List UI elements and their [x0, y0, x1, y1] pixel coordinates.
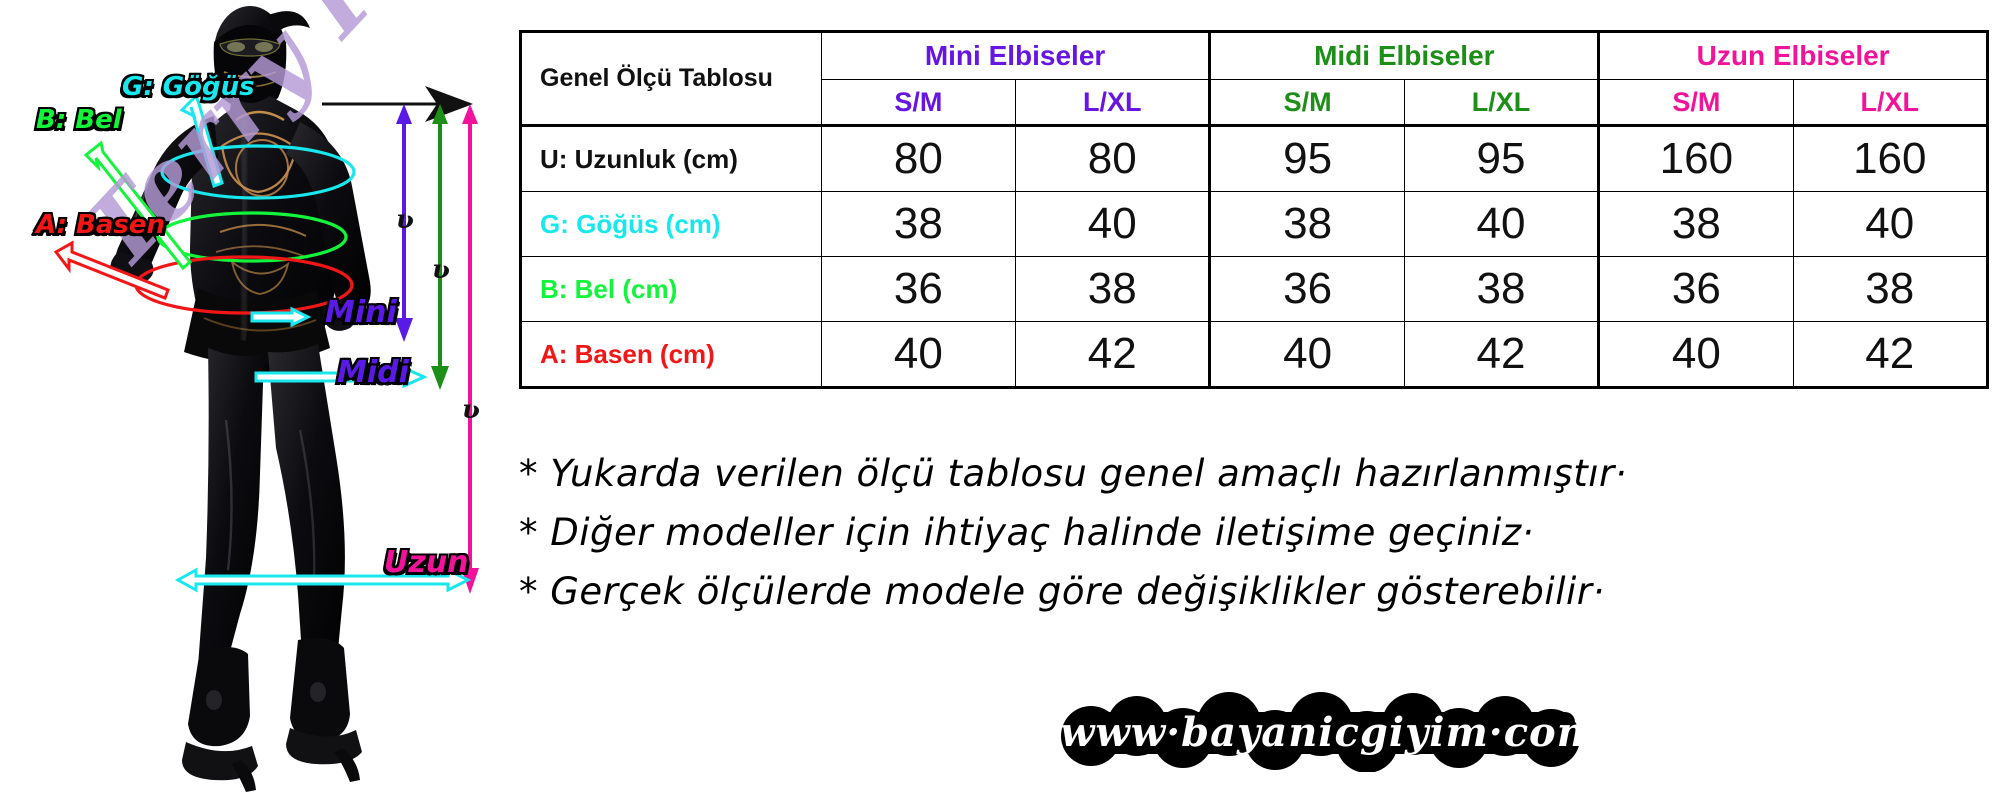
- label-midi: Midi: [337, 355, 409, 390]
- table-row: U: Uzunluk (cm) 80 80 95 95 160 160: [521, 126, 1988, 192]
- cell-basen-uzun-sm: 40: [1599, 322, 1793, 388]
- cell-bel-mini-sm: 36: [821, 257, 1015, 322]
- group-header-mini: Mini Elbiseler: [821, 32, 1210, 80]
- cell-gogus-uzun-lxl: 40: [1793, 192, 1987, 257]
- cell-basen-mini-sm: 40: [821, 322, 1015, 388]
- model-silhouette: [110, 6, 370, 792]
- u-glyph-uzun: ʋ: [462, 395, 480, 425]
- cell-bel-midi-lxl: 38: [1404, 257, 1598, 322]
- size-chart-page: ʋ ʋ ʋ Terry Pau G: Göğüs B: Bel A: Basen…: [0, 0, 2010, 811]
- row-label-bel: B: Bel (cm): [521, 257, 822, 322]
- label-bel: B: Bel: [36, 105, 122, 135]
- cell-gogus-midi-lxl: 40: [1404, 192, 1598, 257]
- cell-gogus-uzun-sm: 38: [1599, 192, 1793, 257]
- size-header-uzun-sm: S/M: [1599, 80, 1793, 126]
- website-url-text: www·bayanicgiyim·com: [1045, 692, 1615, 772]
- cell-basen-uzun-lxl: 42: [1793, 322, 1987, 388]
- size-header-midi-sm: S/M: [1210, 80, 1404, 126]
- note-line-1: * Yukarda verilen ölçü tablosu genel ama…: [519, 455, 1999, 492]
- cell-uzunluk-midi-lxl: 95: [1404, 126, 1598, 192]
- table-row: A: Basen (cm) 40 42 40 42 40 42: [521, 322, 1988, 388]
- size-table: Genel Ölçü Tablosu Mini Elbiseler Midi E…: [519, 30, 1989, 389]
- group-header-midi: Midi Elbiseler: [1210, 32, 1599, 80]
- u-glyph-midi: ʋ: [432, 255, 450, 285]
- cell-uzunluk-uzun-sm: 160: [1599, 126, 1793, 192]
- size-header-midi-lxl: L/XL: [1404, 80, 1598, 126]
- cell-gogus-mini-lxl: 40: [1016, 192, 1210, 257]
- notes-block: * Yukarda verilen ölçü tablosu genel ama…: [519, 455, 1999, 632]
- table-row: B: Bel (cm) 36 38 36 38 36 38: [521, 257, 1988, 322]
- cell-uzunluk-uzun-lxl: 160: [1793, 126, 1987, 192]
- note-line-2: * Diğer modeller için ihtiyaç halinde il…: [519, 514, 1999, 551]
- cell-bel-midi-sm: 36: [1210, 257, 1404, 322]
- row-label-uzunluk: U: Uzunluk (cm): [521, 126, 822, 192]
- label-mini: Mini: [325, 295, 397, 330]
- note-line-3: * Gerçek ölçülerde modele göre değişikli…: [519, 573, 1999, 610]
- size-header-mini-lxl: L/XL: [1016, 80, 1210, 126]
- size-header-mini-sm: S/M: [821, 80, 1015, 126]
- u-glyph-mini: ʋ: [396, 205, 414, 235]
- length-arrow-midi: [431, 104, 449, 390]
- label-basen: A: Basen: [36, 210, 165, 240]
- cell-uzunluk-mini-lxl: 80: [1016, 126, 1210, 192]
- size-header-uzun-lxl: L/XL: [1793, 80, 1987, 126]
- cell-uzunluk-midi-sm: 95: [1210, 126, 1404, 192]
- cell-gogus-mini-sm: 38: [821, 192, 1015, 257]
- table-row: G: Göğüs (cm) 38 40 38 40 38 40: [521, 192, 1988, 257]
- row-label-basen: A: Basen (cm): [521, 322, 822, 388]
- cell-basen-mini-lxl: 42: [1016, 322, 1210, 388]
- label-gogus: G: Göğüs: [122, 72, 255, 102]
- cell-basen-midi-lxl: 42: [1404, 322, 1598, 388]
- table-header-row-groups: Genel Ölçü Tablosu Mini Elbiseler Midi E…: [521, 32, 1988, 80]
- length-arrow-uzun: [461, 104, 479, 594]
- label-uzun: Uzun: [384, 545, 469, 580]
- group-header-uzun: Uzun Elbiseler: [1599, 32, 1988, 80]
- size-table-wrapper: Genel Ölçü Tablosu Mini Elbiseler Midi E…: [519, 30, 1989, 389]
- cell-uzunluk-mini-sm: 80: [821, 126, 1015, 192]
- cell-bel-uzun-lxl: 38: [1793, 257, 1987, 322]
- cell-basen-midi-sm: 40: [1210, 322, 1404, 388]
- cell-bel-uzun-sm: 36: [1599, 257, 1793, 322]
- row-label-gogus: G: Göğüs (cm): [521, 192, 822, 257]
- website-badge[interactable]: www·bayanicgiyim·com: [1045, 692, 1615, 772]
- corner-label: Genel Ölçü Tablosu: [521, 32, 822, 126]
- cell-gogus-midi-sm: 38: [1210, 192, 1404, 257]
- cell-bel-mini-lxl: 38: [1016, 257, 1210, 322]
